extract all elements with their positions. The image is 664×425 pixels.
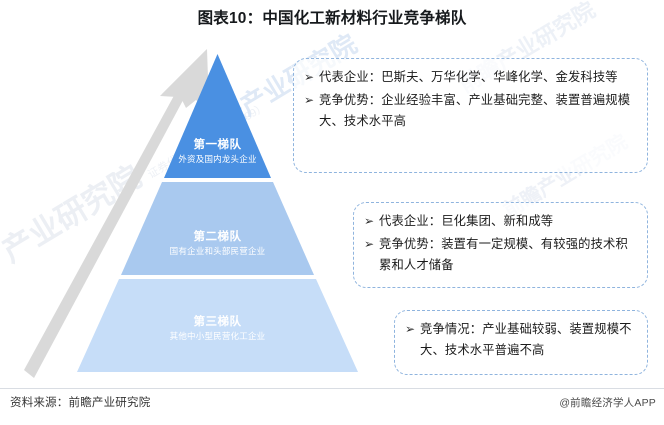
callout-tier-1: ➢ 代表企业：巴斯夫、万华化学、华峰化学、金发科技等 ➢ 竞争优势：企业经验丰富…: [293, 58, 648, 173]
pyramid-tier-1: [164, 54, 271, 178]
callout-2-bullet-1-text: 代表企业：巨化集团、新和成等: [379, 211, 635, 232]
callout-1-bullet-2: ➢ 竞争优势：企业经验丰富、产业基础完整、装置普遍规模大、技术水平高: [304, 90, 635, 132]
callout-2-bullet-2: ➢ 竞争优势：装置有一定规模、有较强的技术积累和人才储备: [364, 234, 635, 276]
callout-1-bullet-1-text: 代表企业：巴斯夫、万华化学、华峰化学、金发科技等: [319, 67, 635, 88]
callout-3-bullet-1-text: 竞争情况：产业基础较弱、装置规模不大、技术水平普遍不高: [420, 319, 635, 361]
footer-brand: @前瞻经济学人APP: [559, 395, 656, 410]
page-title: 图表10：中国化工新材料行业竞争梯队: [0, 9, 664, 29]
callout-tier-2: ➢ 代表企业：巨化集团、新和成等 ➢ 竞争优势：装置有一定规模、有较强的技术积累…: [353, 202, 648, 288]
footer-divider: [0, 388, 664, 389]
pyramid-tier-2: [121, 182, 314, 275]
footer-source: 资料来源：前瞻产业研究院: [10, 394, 150, 410]
callout-2-bullet-1: ➢ 代表企业：巨化集团、新和成等: [364, 211, 635, 232]
arrow-bullet-icon: ➢: [304, 90, 319, 111]
arrow-bullet-icon: ➢: [304, 67, 319, 88]
arrow-bullet-icon: ➢: [364, 211, 379, 232]
callout-1-bullet-2-text: 竞争优势：企业经验丰富、产业基础完整、装置普遍规模大、技术水平高: [319, 90, 635, 132]
arrow-bullet-icon: ➢: [405, 319, 420, 340]
callout-tier-3: ➢ 竞争情况：产业基础较弱、装置规模不大、技术水平普遍不高: [394, 310, 648, 375]
callout-1-bullet-1: ➢ 代表企业：巴斯夫、万华化学、华峰化学、金发科技等: [304, 67, 635, 88]
figure-container: 产业研究院 证券代码（股票：839599） 前瞻产业研究院 前瞻产业研究院 前瞻…: [0, 0, 664, 425]
callout-2-bullet-2-text: 竞争优势：装置有一定规模、有较强的技术积累和人才储备: [379, 234, 635, 276]
pyramid-tier-3: [77, 279, 358, 372]
arrow-bullet-icon: ➢: [364, 234, 379, 255]
callout-3-bullet-1: ➢ 竞争情况：产业基础较弱、装置规模不大、技术水平普遍不高: [405, 319, 635, 361]
